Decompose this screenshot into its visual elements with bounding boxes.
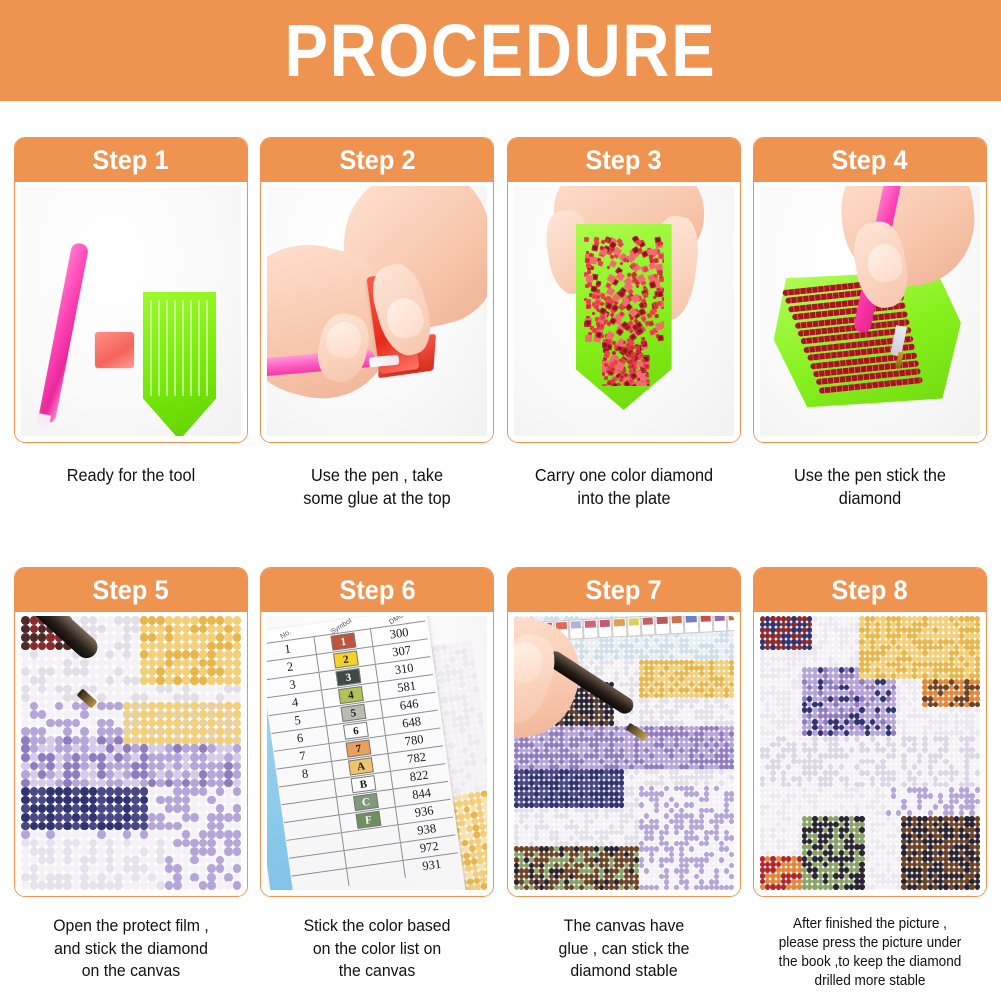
steps-row-2: Step 5 Open the protect film , and stick…: [14, 567, 987, 991]
step-4-caption: Use the pen stick the diamond: [761, 464, 979, 511]
step-3-caption: Carry one color diamond into the plate: [515, 464, 733, 511]
step-2-card-frame: Step 2: [260, 137, 494, 443]
step-1-card-frame: Step 1: [14, 137, 248, 443]
step-card-4[interactable]: Step 4 Use the pen st: [753, 137, 987, 511]
step-4-header: Step 4: [754, 138, 986, 182]
page-banner: PROCEDURE: [0, 0, 1001, 101]
step-7-header: Step 7: [508, 568, 740, 612]
step-card-3[interactable]: Step 3 Carry one color diamond into the …: [507, 137, 741, 511]
step-4-photo: [754, 182, 986, 442]
step-8-header-label: Step 8: [832, 575, 908, 606]
step-3-photo: [508, 182, 740, 442]
step-2-header: Step 2: [261, 138, 493, 182]
step-card-2[interactable]: Step 2: [260, 137, 494, 511]
step-card-7[interactable]: Step 7 The canvas have glue , can stick …: [507, 567, 741, 991]
step-card-5[interactable]: Step 5 Open the protect film , and stick…: [14, 567, 248, 991]
step-1-caption: Ready for the tool: [22, 464, 240, 487]
step-card-1[interactable]: Step 1 Ready for the tool: [14, 137, 248, 511]
finished-diamond-painting: [760, 616, 980, 890]
step-4-card-frame: Step 4: [753, 137, 987, 443]
red-diamonds-pile: [584, 236, 664, 386]
step-6-card-frame: Step 6 No.SymbolDMC113002230733310445815…: [260, 567, 494, 897]
step-6-photo: No.SymbolDMC1130022307333104458155646666…: [261, 612, 493, 896]
step-7-header-label: Step 7: [586, 575, 662, 606]
step-8-photo: [754, 612, 986, 896]
steps-row-1: Step 1 Ready for the tool: [14, 137, 987, 511]
step-card-8[interactable]: Step 8 After finished the picture , plea…: [753, 567, 987, 991]
step-5-header: Step 5: [15, 568, 247, 612]
step-6-caption: Stick the color based on the color list …: [269, 915, 487, 983]
step-1-photo: [15, 182, 247, 442]
step-3-header: Step 3: [508, 138, 740, 182]
step-2-photo: [261, 182, 493, 442]
step-3-header-label: Step 3: [586, 145, 662, 176]
step-6-header-label: Step 6: [339, 575, 415, 606]
step-7-card-frame: Step 7: [507, 567, 741, 897]
step-6-header: Step 6: [261, 568, 493, 612]
step-5-caption: Open the protect film , and stick the di…: [22, 915, 240, 983]
step-3-card-frame: Step 3: [507, 137, 741, 443]
wax-square-icon: [95, 332, 134, 368]
step-card-6[interactable]: Step 6 No.SymbolDMC113002230733310445815…: [260, 567, 494, 991]
procedure-page: PROCEDURE Step 1: [0, 0, 1001, 1001]
step-1-header: Step 1: [15, 138, 247, 182]
step-8-header: Step 8: [754, 568, 986, 612]
diamond-canvas-mosaic: [21, 616, 241, 890]
step-4-header-label: Step 4: [832, 145, 908, 176]
step-2-header-label: Step 2: [339, 145, 415, 176]
page-title: PROCEDURE: [285, 14, 717, 88]
step-8-caption: After finished the picture , please pres…: [761, 915, 979, 991]
step-2-caption: Use the pen , take some glue at the top: [269, 464, 487, 511]
step-5-card-frame: Step 5: [14, 567, 248, 897]
step-1-header-label: Step 1: [93, 145, 169, 176]
step-7-photo: [508, 612, 740, 896]
step-8-card-frame: Step 8: [753, 567, 987, 897]
step-5-photo: [15, 612, 247, 896]
step-5-header-label: Step 5: [93, 575, 169, 606]
step-7-caption: The canvas have glue , can stick the dia…: [515, 915, 733, 983]
